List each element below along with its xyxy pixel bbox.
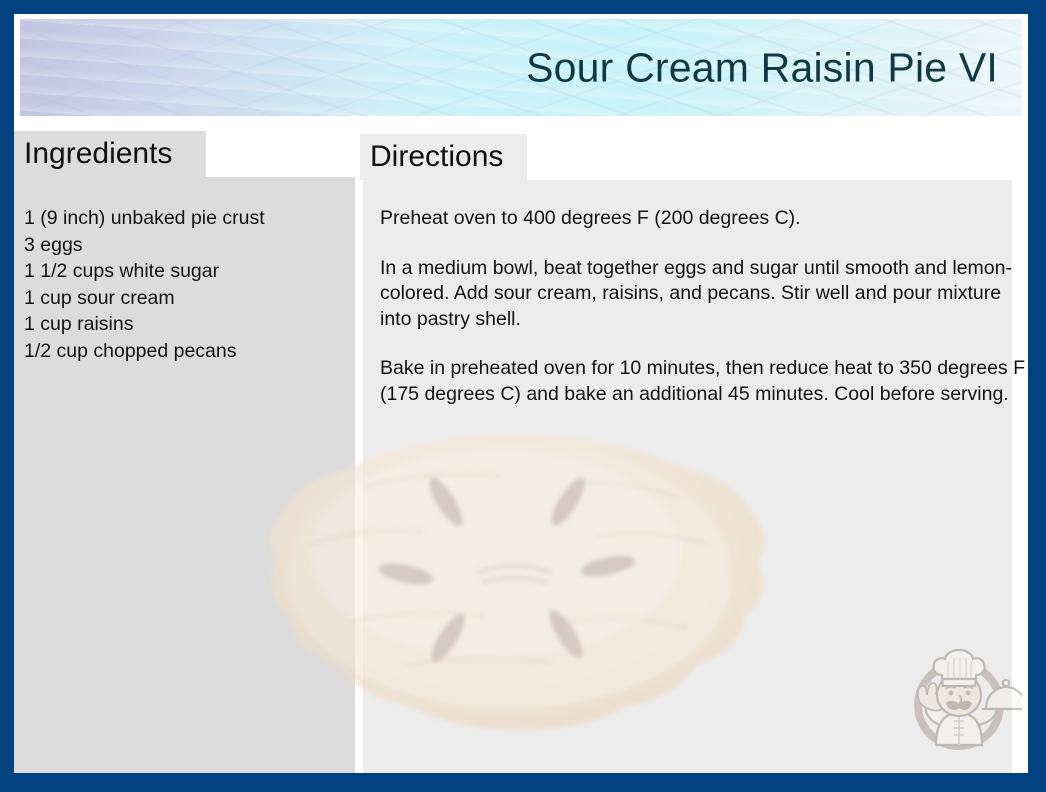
- recipe-title: Sour Cream Raisin Pie VI: [526, 47, 998, 88]
- direction-step: Bake in preheated oven for 10 minutes, t…: [380, 356, 1025, 407]
- recipe-page: Sour Cream Raisin Pie VI Ingredients 1 (…: [14, 14, 1028, 773]
- directions-list: Preheat oven to 400 degrees F (200 degre…: [380, 206, 1025, 407]
- list-item: 3 eggs: [24, 232, 347, 259]
- list-item: 1/2 cup chopped pecans: [24, 338, 347, 365]
- list-item: 1 (9 inch) unbaked pie crust: [24, 205, 347, 232]
- directions-panel: Preheat oven to 400 degrees F (200 degre…: [363, 180, 1012, 773]
- list-item: 1 1/2 cups white sugar: [24, 258, 347, 285]
- recipe-card: Sour Cream Raisin Pie VI Ingredients 1 (…: [0, 0, 1046, 792]
- list-item: 1 cup sour cream: [24, 285, 347, 312]
- direction-step: Preheat oven to 400 degrees F (200 degre…: [380, 206, 1025, 232]
- ingredients-panel: 1 (9 inch) unbaked pie crust 3 eggs 1 1/…: [14, 177, 355, 773]
- direction-step: In a medium bowl, beat together eggs and…: [380, 256, 1025, 333]
- list-item: 1 cup raisins: [24, 311, 347, 338]
- tab-directions[interactable]: Directions: [360, 134, 527, 180]
- ingredients-list: 1 (9 inch) unbaked pie crust 3 eggs 1 1/…: [24, 205, 347, 365]
- header-banner: Sour Cream Raisin Pie VI: [20, 19, 1022, 116]
- tab-ingredients[interactable]: Ingredients: [14, 131, 206, 177]
